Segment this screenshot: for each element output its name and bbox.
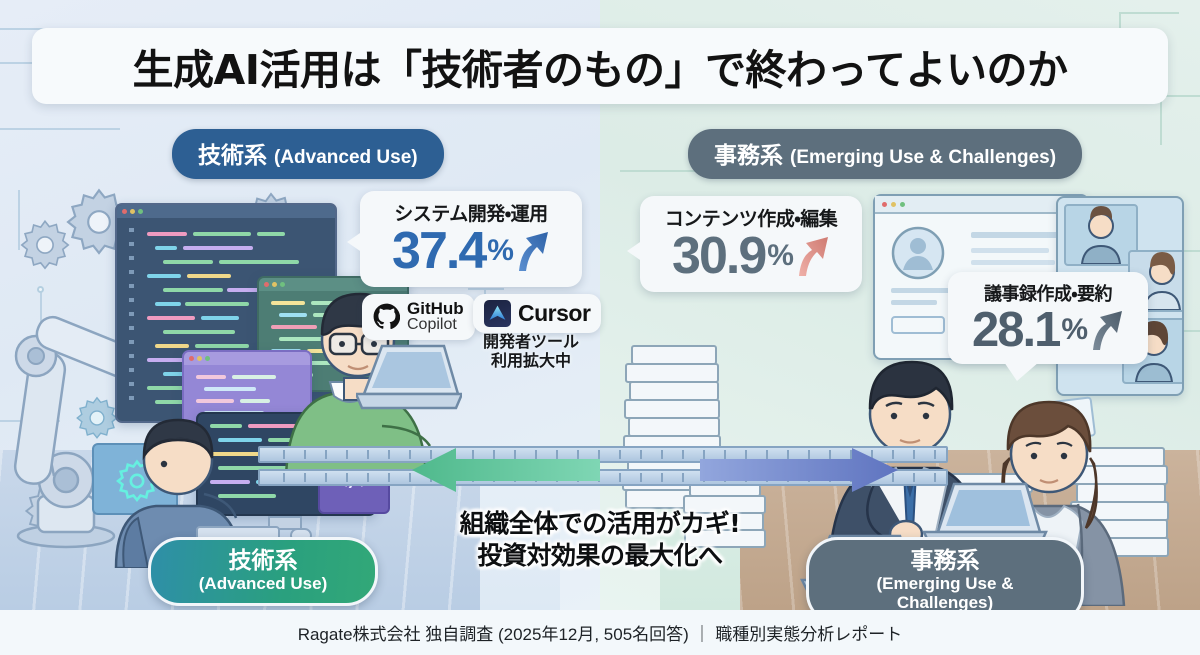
arrow-right-blue: [700, 446, 900, 494]
cursor-label: Cursor: [518, 300, 590, 327]
header-pill-tech-jp: 技術系: [198, 136, 267, 170]
tool-badge-cursor[interactable]: Cursor: [473, 294, 601, 333]
tool-adoption-note: 開発者ツール 利用拡大中: [470, 334, 592, 372]
copilot-line1: GitHub: [407, 300, 464, 317]
bottom-pill-office-en: (Emerging Use & Challenges): [835, 574, 1055, 612]
center-message-line1: 組織全体での活用がカギ!: [400, 508, 800, 540]
gear-icon: [18, 218, 72, 272]
footer-bar: Ragate株式会社 独自調査 (2025年12月, 505名回答) ｜ 職種別…: [0, 610, 1200, 655]
arrow-left-green: [410, 446, 600, 494]
tool-badge-github-copilot[interactable]: GitHub Copilot: [362, 294, 475, 340]
infographic-canvas: </>: [0, 0, 1200, 655]
bottom-pill-tech-en: (Advanced Use): [177, 574, 349, 593]
header-pill-office-en: (Emerging Use & Challenges): [790, 147, 1056, 169]
trend-up-arrow-icon: [516, 229, 550, 273]
stat-bubble-minutes-summary: 議事録作成・要約 28.1 %: [948, 272, 1148, 364]
laptop: [356, 338, 462, 422]
stat-number: 28.1: [972, 306, 1059, 354]
tool-note-line2: 利用拡大中: [470, 353, 592, 372]
user-avatar-icon: [891, 226, 945, 280]
stat-percent-sign: %: [487, 236, 514, 266]
header-pill-office[interactable]: 事務系 (Emerging Use & Challenges): [688, 129, 1082, 179]
bottom-pill-tech[interactable]: 技術系 (Advanced Use): [148, 537, 378, 606]
bottom-pill-tech-jp: 技術系: [177, 548, 349, 574]
stat-bubble-system-dev: システム開発・運用 37.4 %: [360, 191, 582, 287]
trend-up-arrow-icon: [1090, 308, 1124, 352]
stat-percent-sign: %: [1061, 315, 1088, 345]
stat-number: 30.9: [672, 231, 765, 282]
header-pill-tech-en: (Advanced Use): [274, 147, 418, 169]
header-pill-tech[interactable]: 技術系 (Advanced Use): [172, 129, 444, 179]
footer-source-text: Ragate株式会社 独自調査 (2025年12月, 505名回答) ｜ 職種別…: [298, 620, 903, 645]
center-message: 組織全体での活用がカギ! 投資対効果の最大化へ: [400, 508, 800, 571]
cursor-icon: [484, 300, 511, 327]
stat-bubble-content-creation: コンテンツ作成・編集 30.9 %: [640, 196, 862, 292]
copilot-line2: Copilot: [407, 317, 464, 333]
page-title: 生成AI活用は「技術者のもの」で終わってよいのか: [133, 36, 1068, 96]
title-card: 生成AI活用は「技術者のもの」で終わってよいのか: [32, 28, 1168, 104]
stat-number: 37.4: [392, 226, 485, 277]
center-message-line2: 投資対効果の最大化へ: [400, 540, 800, 572]
header-pill-office-jp: 事務系: [714, 136, 783, 170]
github-icon: [373, 303, 400, 330]
trend-up-arrow-icon: [796, 234, 830, 278]
bottom-pill-office-jp: 事務系: [835, 548, 1055, 574]
tool-note-line1: 開発者ツール: [470, 334, 592, 353]
stat-percent-sign: %: [767, 241, 794, 271]
